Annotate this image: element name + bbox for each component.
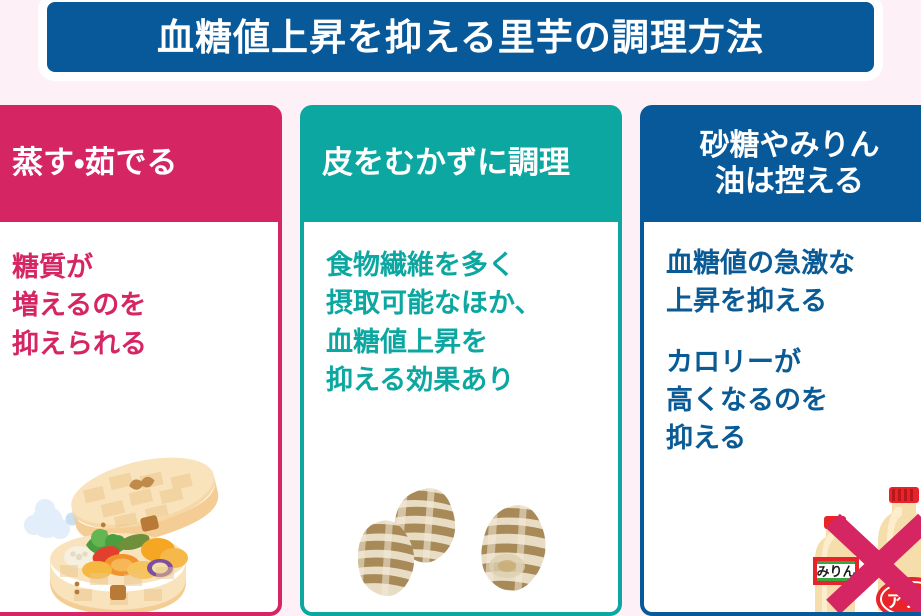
card-body-paragraph: 糖質が増えるのを抑えられる [12,248,278,363]
card-header-limit-sugar-mirin-oil: 砂糖やみりん油は控える [640,105,921,222]
page-title-banner: 血糖値上昇を抑える里芋の調理方法 [47,2,874,72]
card-limit-sugar-mirin-oil: 砂糖やみりん油は控える 血糖値の急激な上昇を抑える カロリーが高くなるのを抑える [640,105,921,616]
card-header-label: 砂糖やみりん油は控える [700,128,880,199]
taro-roots-icon [352,470,587,610]
card-body-paragraph: 食物繊維を多く摂取可能なほか、血糖値上昇を抑える効果あり [326,246,618,399]
card-text-block: 血糖値の急激な上昇を抑える カロリーが高くなるのを抑える [644,222,921,458]
card-header-label: 皮をむかずに調理 [322,145,570,182]
card-body-limit-sugar-mirin-oil: 血糖値の急激な上昇を抑える カロリーが高くなるのを抑える [640,222,921,616]
bamboo-steamer-icon [14,437,244,612]
card-body-cook-with-skin: 食物繊維を多く摂取可能なほか、血糖値上昇を抑える効果あり [300,222,622,616]
card-body-steam-boil: 糖質が増えるのを抑えられる [0,222,282,616]
card-cook-with-skin: 皮をむかずに調理 食物繊維を多く摂取可能なほか、血糖値上昇を抑える効果あり [300,105,622,616]
cards-row: 蒸す・茹でる 糖質が増えるのを抑えられる [0,105,921,616]
card-body-paragraph: カロリーが高くなるのを抑える [666,343,921,458]
card-steam-boil: 蒸す・茹でる 糖質が増えるのを抑えられる [0,105,282,616]
card-header-steam-boil: 蒸す・茹でる [0,105,282,222]
card-text-block: 糖質が増えるのを抑えられる [0,222,278,363]
card-body-paragraph: 血糖値の急激な上昇を抑える [666,244,921,321]
card-header-cook-with-skin: 皮をむかずに調理 [300,105,622,222]
mirin-oil-bottles-icon: アブラ みりん [797,481,921,616]
page-title: 血糖値上昇を抑える里芋の調理方法 [157,19,764,56]
card-text-block: 食物繊維を多く摂取可能なほか、血糖値上昇を抑える効果あり [304,222,618,399]
mirin-bottle-label: みりん [816,564,855,579]
card-header-label: 蒸す・茹でる [12,145,178,182]
